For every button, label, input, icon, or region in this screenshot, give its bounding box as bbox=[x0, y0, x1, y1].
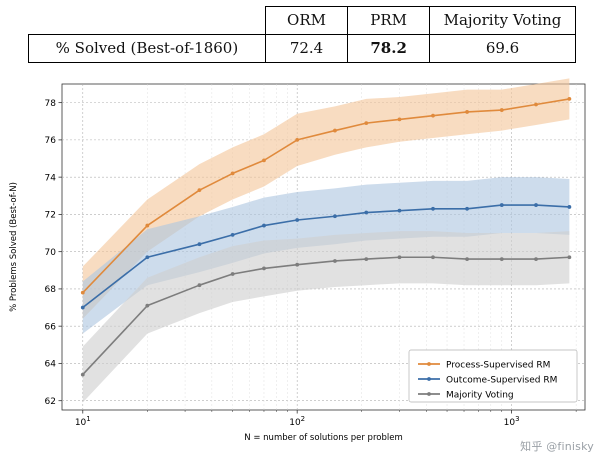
data-point bbox=[534, 103, 538, 107]
y-tick-label: 70 bbox=[45, 248, 57, 258]
chart-svg: 626466687072747678101102103N = number of… bbox=[0, 72, 600, 457]
data-point bbox=[231, 272, 235, 276]
x-tick-label: 101 bbox=[75, 415, 91, 428]
watermark: 知乎 @finisky bbox=[520, 438, 594, 454]
y-tick-label: 64 bbox=[45, 360, 57, 370]
legend-label-1: Outcome-Supervised RM bbox=[446, 375, 557, 385]
data-point bbox=[198, 188, 202, 192]
legend-marker-2 bbox=[427, 392, 431, 396]
summary-table-container: ORM PRM Majority Voting % Solved (Best-o… bbox=[28, 6, 576, 63]
data-point bbox=[465, 257, 469, 261]
table-header-row: ORM PRM Majority Voting bbox=[29, 7, 576, 35]
data-point bbox=[231, 233, 235, 237]
data-point bbox=[364, 211, 368, 215]
data-point bbox=[431, 207, 435, 211]
figure-root: ORM PRM Majority Voting % Solved (Best-o… bbox=[0, 0, 600, 457]
data-point bbox=[262, 224, 266, 228]
table-header-prm: PRM bbox=[348, 7, 430, 35]
data-point bbox=[81, 306, 85, 310]
x-axis-label: N = number of solutions per problem bbox=[244, 433, 402, 443]
data-point bbox=[398, 209, 402, 213]
table-cell-prm: 78.2 bbox=[348, 34, 430, 62]
data-point bbox=[465, 110, 469, 114]
data-point bbox=[567, 205, 571, 209]
data-point bbox=[81, 373, 85, 377]
legend-marker-1 bbox=[427, 377, 431, 381]
x-tick-label: 102 bbox=[289, 415, 305, 428]
data-point bbox=[198, 242, 202, 246]
y-axis-label: % Problems Solved (Best-of-N) bbox=[9, 182, 19, 312]
data-point bbox=[567, 255, 571, 259]
data-point bbox=[295, 218, 299, 222]
data-point bbox=[567, 97, 571, 101]
y-tick-label: 66 bbox=[45, 322, 57, 332]
data-point bbox=[465, 207, 469, 211]
data-point bbox=[295, 263, 299, 267]
data-point bbox=[534, 257, 538, 261]
table-row-label: % Solved (Best-of-1860) bbox=[29, 34, 266, 62]
summary-table: ORM PRM Majority Voting % Solved (Best-o… bbox=[28, 6, 576, 63]
data-point bbox=[145, 304, 149, 308]
data-point bbox=[262, 267, 266, 271]
legend-marker-0 bbox=[427, 362, 431, 366]
table-corner-cell bbox=[29, 7, 266, 35]
data-point bbox=[431, 114, 435, 118]
data-point bbox=[231, 172, 235, 176]
data-point bbox=[145, 224, 149, 228]
data-point bbox=[145, 255, 149, 259]
data-point bbox=[364, 257, 368, 261]
data-point bbox=[333, 259, 337, 263]
data-point bbox=[333, 214, 337, 218]
data-point bbox=[262, 158, 266, 162]
data-point bbox=[333, 129, 337, 133]
data-point bbox=[398, 117, 402, 121]
data-point bbox=[534, 203, 538, 207]
data-point bbox=[81, 291, 85, 295]
data-point bbox=[398, 255, 402, 259]
data-point bbox=[295, 138, 299, 142]
data-point bbox=[364, 121, 368, 125]
table-header-orm: ORM bbox=[265, 7, 347, 35]
legend-label-2: Majority Voting bbox=[446, 390, 514, 400]
y-tick-label: 72 bbox=[45, 211, 56, 221]
y-tick-label: 62 bbox=[45, 397, 56, 407]
line-chart: 626466687072747678101102103N = number of… bbox=[0, 72, 600, 457]
y-tick-label: 68 bbox=[45, 285, 57, 295]
table-cell-majority-voting: 69.6 bbox=[430, 34, 576, 62]
table-cell-orm: 72.4 bbox=[265, 34, 347, 62]
data-point bbox=[500, 257, 504, 261]
data-point bbox=[500, 108, 504, 112]
table-header-majority-voting: Majority Voting bbox=[430, 7, 576, 35]
x-tick-label: 103 bbox=[504, 415, 520, 428]
y-tick-label: 74 bbox=[45, 173, 57, 183]
y-tick-label: 76 bbox=[45, 136, 57, 146]
data-point bbox=[198, 283, 202, 287]
table-row: % Solved (Best-of-1860) 72.4 78.2 69.6 bbox=[29, 34, 576, 62]
y-tick-label: 78 bbox=[45, 99, 57, 109]
data-point bbox=[431, 255, 435, 259]
legend-label-0: Process-Supervised RM bbox=[446, 360, 550, 370]
data-point bbox=[500, 203, 504, 207]
